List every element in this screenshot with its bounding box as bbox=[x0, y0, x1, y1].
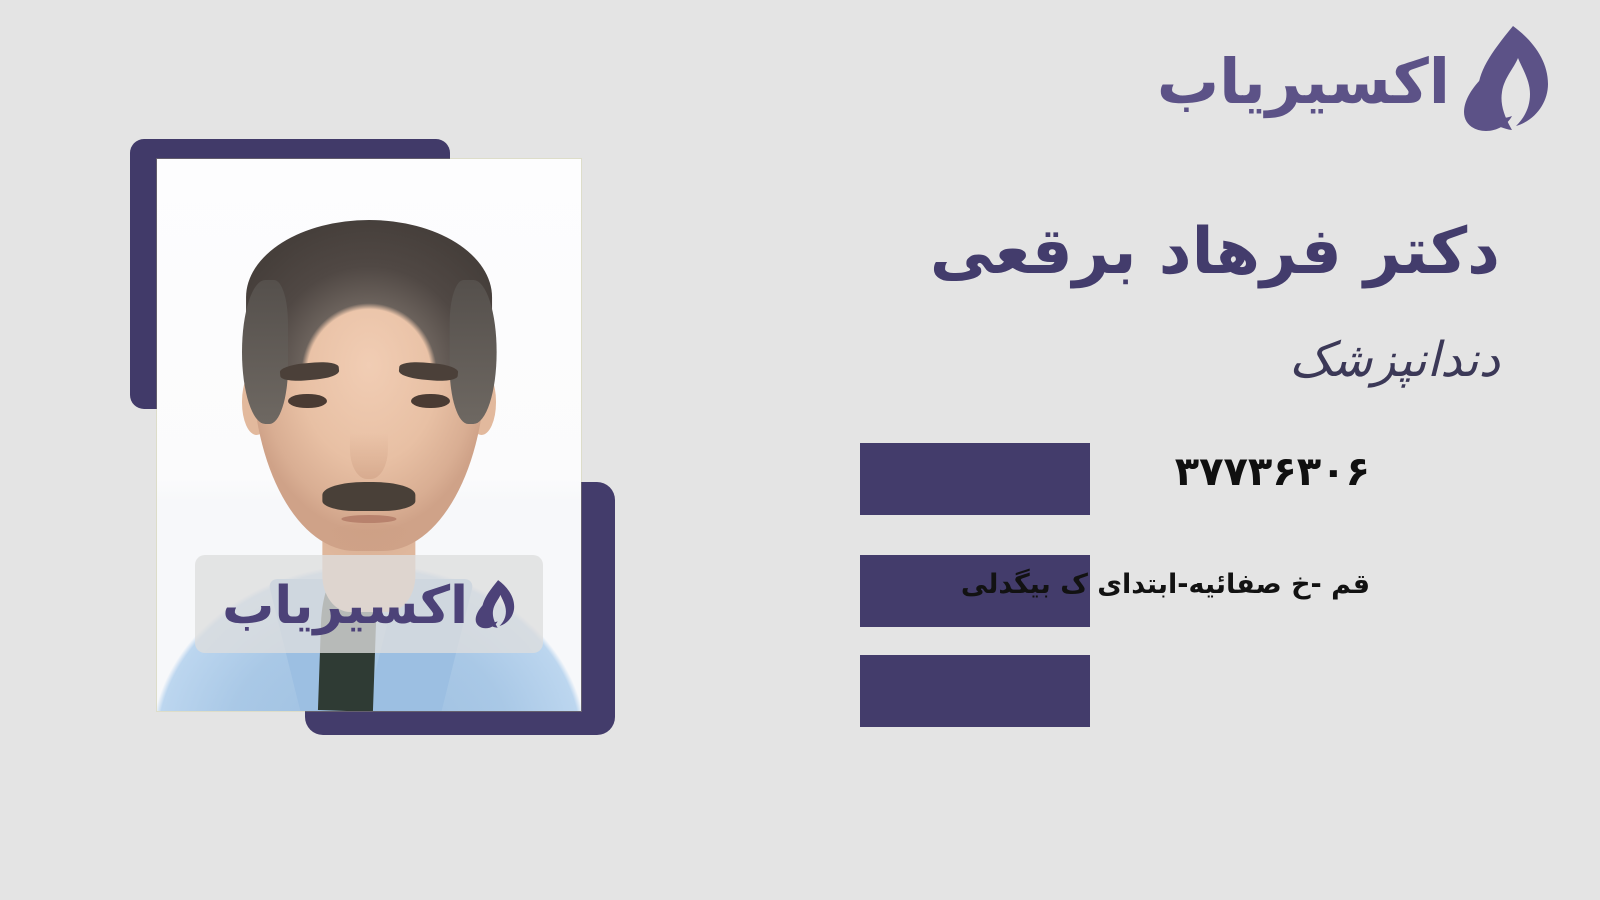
portrait-mouth bbox=[341, 515, 396, 523]
accent-bar-1 bbox=[860, 443, 1090, 515]
portrait-mustache bbox=[322, 482, 415, 511]
accent-bar-3 bbox=[860, 655, 1090, 727]
portrait-nose bbox=[350, 413, 388, 479]
portrait-hair-side-left bbox=[242, 280, 289, 424]
portrait-eye-right bbox=[411, 394, 449, 408]
doctor-info-panel: دکتر فرهاد برقعی دندانپزشک ۳۷۷۳۶۳۰۶ قم -… bbox=[860, 0, 1600, 900]
doctor-photo: اکسیریاب bbox=[157, 159, 581, 711]
photo-composition: اکسیریاب bbox=[0, 0, 700, 900]
watermark-text: اکسیریاب bbox=[222, 580, 468, 632]
portrait-eye-left bbox=[288, 394, 326, 408]
phone-row: ۳۷۷۳۶۳۰۶ bbox=[860, 443, 1600, 515]
doctor-specialty: دندانپزشک bbox=[1289, 332, 1500, 390]
doctor-profile-card: اکسیریاب bbox=[0, 0, 1600, 900]
doctor-name: دکتر فرهاد برقعی bbox=[930, 216, 1500, 290]
flame-icon bbox=[472, 576, 516, 632]
portrait-hair-side-right bbox=[450, 280, 497, 424]
address-row: قم -خ صفائیه-ابتدای ک بیگدلی bbox=[860, 555, 1600, 627]
phone-number[interactable]: ۳۷۷۳۶۳۰۶ bbox=[1175, 449, 1370, 495]
photo-watermark: اکسیریاب bbox=[195, 555, 543, 653]
address-text: قم -خ صفائیه-ابتدای ک بیگدلی bbox=[961, 569, 1370, 600]
